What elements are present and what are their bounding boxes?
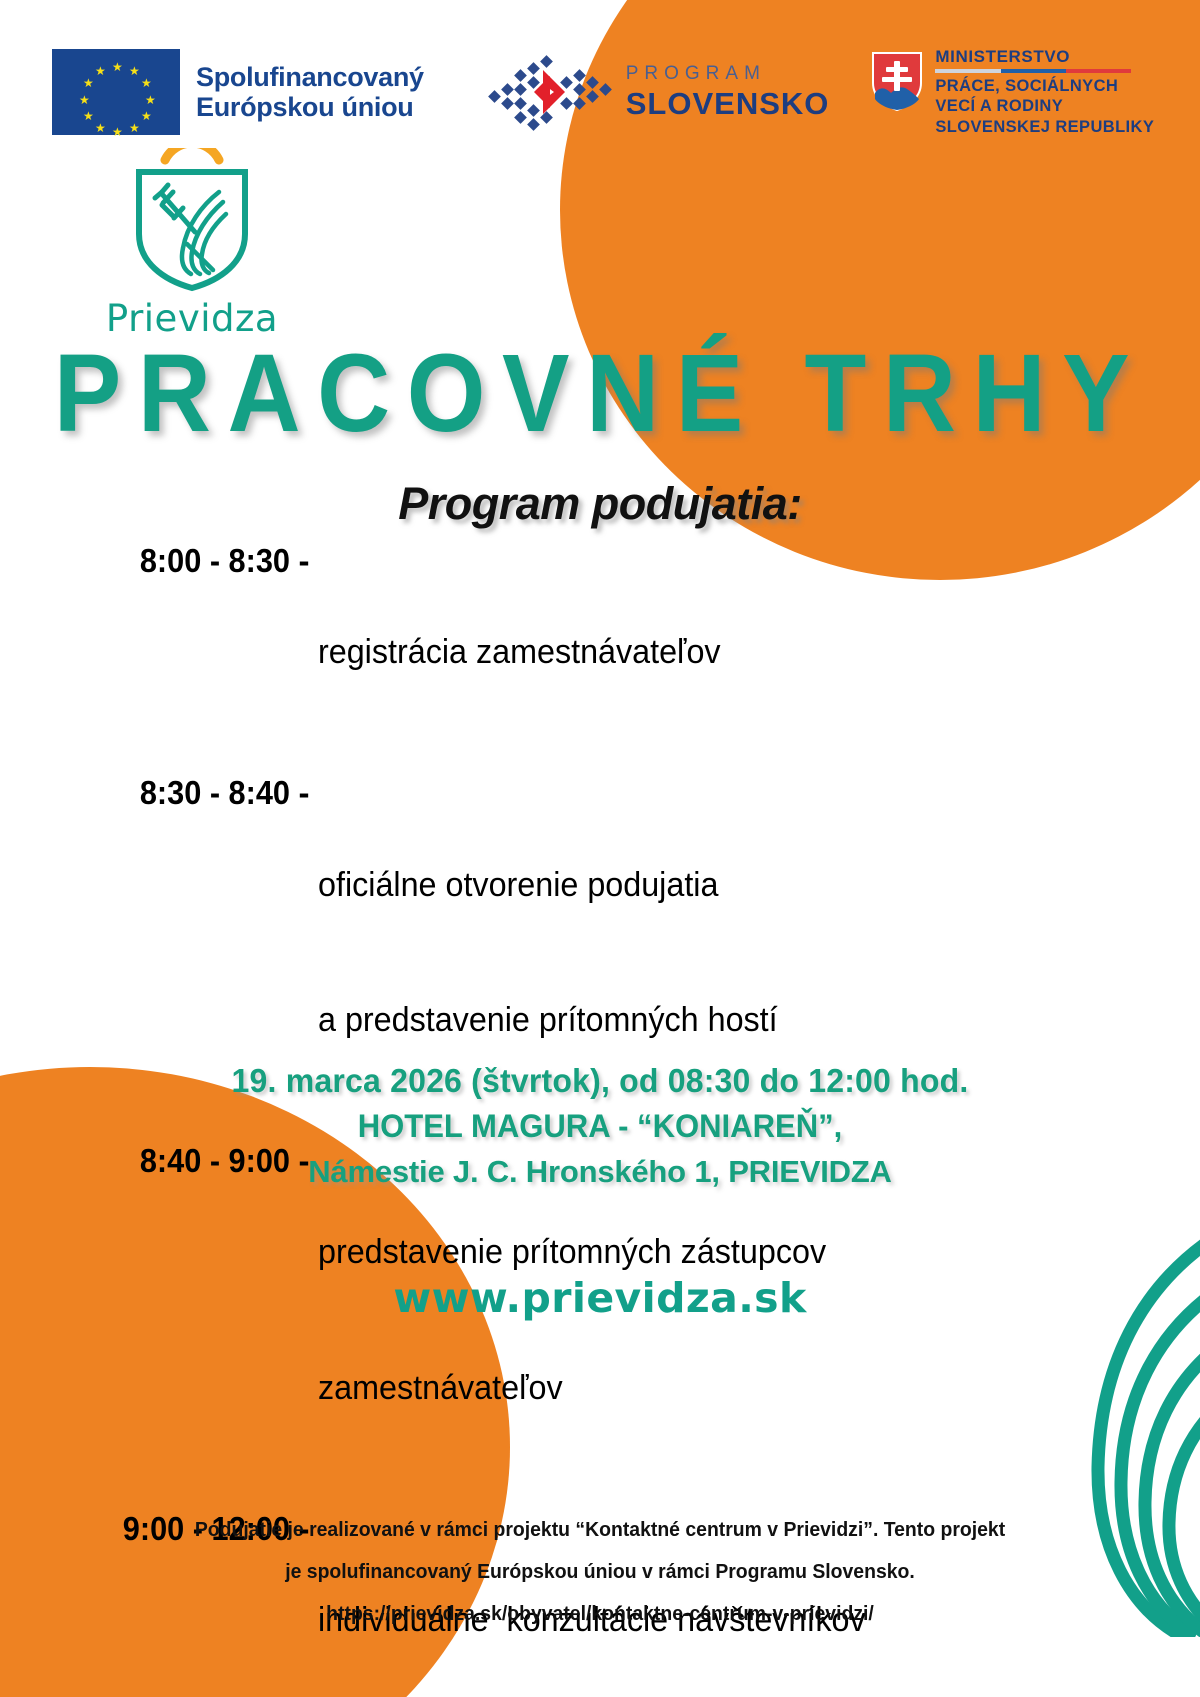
event-info: 19. marca 2026 (štvrtok), od 08:30 do 12…	[0, 1062, 1200, 1190]
schedule-description-line: oficiálne otvorenie podujatia	[318, 863, 1156, 908]
eu-logo-line1: Spolufinancovaný	[196, 62, 424, 92]
page-title: PRACOVNÉ TRHY	[48, 330, 1152, 457]
program-slovensko-logo: PROGRAM SLOVENSKO	[486, 52, 830, 132]
website-link[interactable]: www.prievidza.sk	[0, 1274, 1200, 1322]
footer-line1: Podujatie je realizované v rámci projekt…	[18, 1520, 1182, 1540]
prievidza-shield-icon	[117, 148, 267, 293]
eu-cofunding-logo: ★ ★ ★ ★ ★ ★ ★ ★ ★ ★ ★ ★ Spolufinancovaný…	[52, 49, 424, 135]
schedule-time: 8:30 - 8:40	[20, 772, 290, 812]
schedule-time: 8:00 - 8:30	[20, 540, 290, 580]
ministry-line1: MINISTERSTVO	[935, 47, 1154, 67]
poster: ★ ★ ★ ★ ★ ★ ★ ★ ★ ★ ★ ★ Spolufinancovaný…	[0, 0, 1200, 1697]
eu-logo-line2: Európskou úniou	[196, 92, 424, 122]
eu-logo-text: Spolufinancovaný Európskou úniou	[196, 62, 424, 122]
ministry-logo: MINISTERSTVO PRÁCE, SOCIÁLNYCH VECÍ A RO…	[871, 47, 1154, 136]
schedule-dash: -	[290, 772, 318, 812]
event-date: 19. marca 2026 (štvrtok), od 08:30 do 12…	[18, 1062, 1182, 1100]
ministry-line2: PRÁCE, SOCIÁLNYCH	[935, 76, 1154, 96]
eu-flag-icon: ★ ★ ★ ★ ★ ★ ★ ★ ★ ★ ★ ★	[52, 49, 180, 135]
schedule-description-line: registrácia zamestnávateľov	[318, 630, 1156, 675]
footer-text: Podujatie je realizované v rámci projekt…	[0, 1520, 1200, 1624]
program-slovensko-line2: SLOVENSKO	[626, 86, 830, 122]
ministry-tricolor-divider	[935, 69, 1131, 73]
schedule-dash: -	[290, 540, 318, 580]
ministry-line4: SLOVENSKEJ REPUBLIKY	[935, 117, 1154, 137]
ministry-text: MINISTERSTVO PRÁCE, SOCIÁLNYCH VECÍ A RO…	[935, 47, 1154, 136]
schedule-description-line: zamestnávateľov	[318, 1366, 1156, 1411]
footer-project-url[interactable]: https://prievidza.sk/obyvatel/kontaktne-…	[18, 1604, 1182, 1624]
event-venue: HOTEL MAGURA - “KONIAREŇ”,	[18, 1108, 1182, 1145]
slovak-coat-of-arms-icon	[871, 51, 923, 111]
program-slovensko-line1: PROGRAM	[626, 63, 830, 85]
program-slovensko-mark-icon	[486, 52, 614, 132]
program-slovensko-text: PROGRAM SLOVENSKO	[626, 63, 830, 122]
schedule-description-line: a predstavenie prítomných hostí	[318, 998, 1156, 1043]
footer-line2: je spolufinancovaný Európskou úniou v rá…	[18, 1562, 1182, 1582]
program-heading: Program podujatia:	[0, 478, 1200, 530]
event-address: Námestie J. C. Hronského 1, PRIEVIDZA	[0, 1154, 1200, 1190]
prievidza-city-logo: Prievidza	[82, 148, 302, 340]
logo-bar: ★ ★ ★ ★ ★ ★ ★ ★ ★ ★ ★ ★ Spolufinancovaný…	[0, 38, 1200, 146]
schedule-row: 8:00 - 8:30 - registrácia zamestnávateľo…	[0, 540, 1200, 766]
schedule-description-line: predstavenie prítomných zástupcov	[318, 1230, 1156, 1275]
schedule-description: registrácia zamestnávateľov	[318, 540, 1156, 766]
ministry-line3: VECÍ A RODINY	[935, 96, 1154, 116]
